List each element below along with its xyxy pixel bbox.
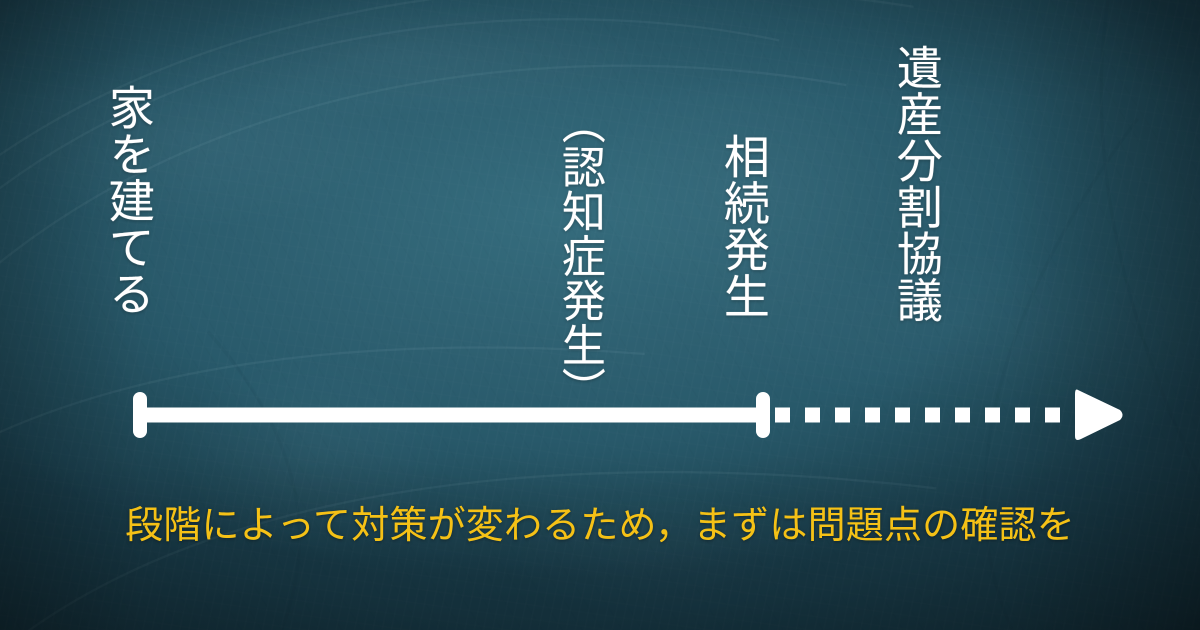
timeline-dash: [955, 408, 970, 423]
timeline-dash: [1045, 408, 1060, 423]
timeline-dash: [835, 408, 850, 423]
timeline-dash: [925, 408, 940, 423]
timeline-arrowhead-icon: [1075, 390, 1123, 441]
caption-text: 段階によって対策が変わるため，まずは問題点の確認を: [0, 494, 1200, 549]
timeline-dash: [895, 408, 910, 423]
timeline-tick-build-house: [133, 392, 147, 438]
timeline-dash: [865, 408, 880, 423]
timeline-tick-inheritance-occurs: [756, 392, 770, 438]
timeline-dash: [985, 408, 1000, 423]
timeline-dash: [775, 408, 790, 423]
timeline-dash: [1015, 408, 1030, 423]
timeline-solid-segment: [140, 408, 763, 423]
timeline-dash: [805, 408, 820, 423]
slide-canvas: 家を建てる （認知症発生） 相続発生 遺産分割協議 段階によって対策が変わるため…: [0, 0, 1200, 630]
